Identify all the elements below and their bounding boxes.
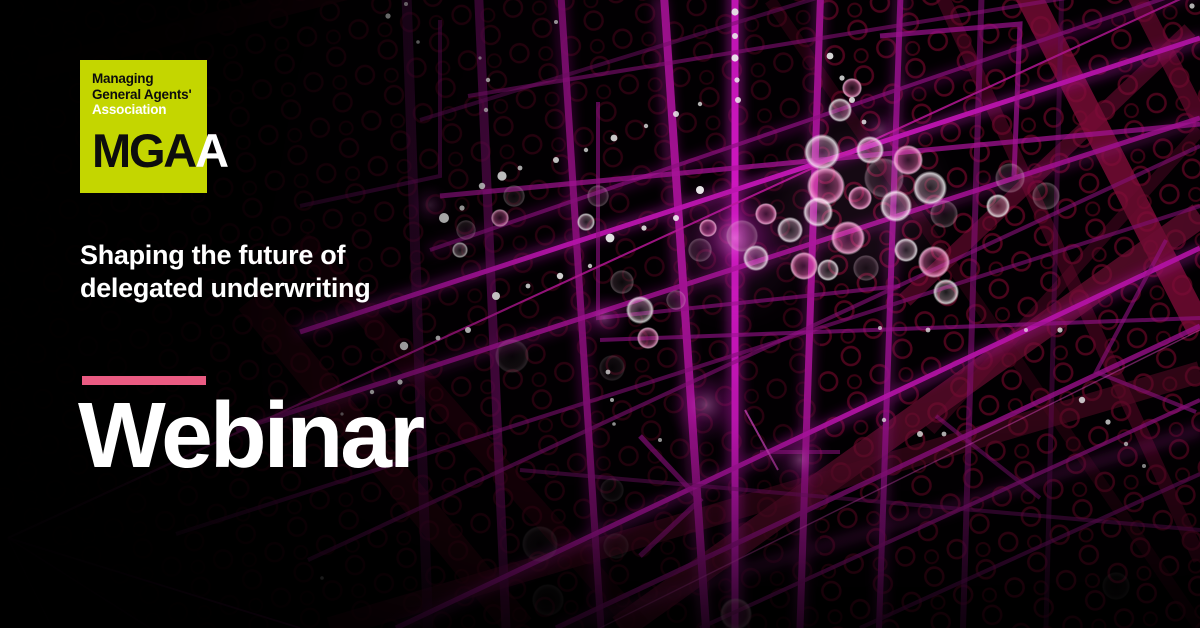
tagline-line-2: delegated underwriting	[80, 272, 420, 305]
logo-wordmark-line-2: General Agents'	[92, 87, 207, 103]
banner-content: Managing General Agents' Association MGA…	[0, 0, 1200, 628]
logo-acronym-base: MGA	[92, 124, 195, 177]
logo-wordmark: Managing General Agents' Association	[92, 71, 207, 118]
logo-wordmark-line-3: Association	[92, 102, 207, 118]
tagline-line-1: Shaping the future of	[80, 239, 420, 272]
logo-acronym-accent: A	[195, 124, 227, 177]
logo-acronym: MGAA	[92, 127, 207, 174]
page-title: Webinar	[78, 387, 422, 483]
logo-wordmark-line-1: Managing	[92, 71, 207, 87]
mgaa-logo: Managing General Agents' Association MGA…	[80, 60, 207, 193]
tagline: Shaping the future of delegated underwri…	[80, 239, 420, 305]
webinar-promo-banner: Managing General Agents' Association MGA…	[0, 0, 1200, 628]
